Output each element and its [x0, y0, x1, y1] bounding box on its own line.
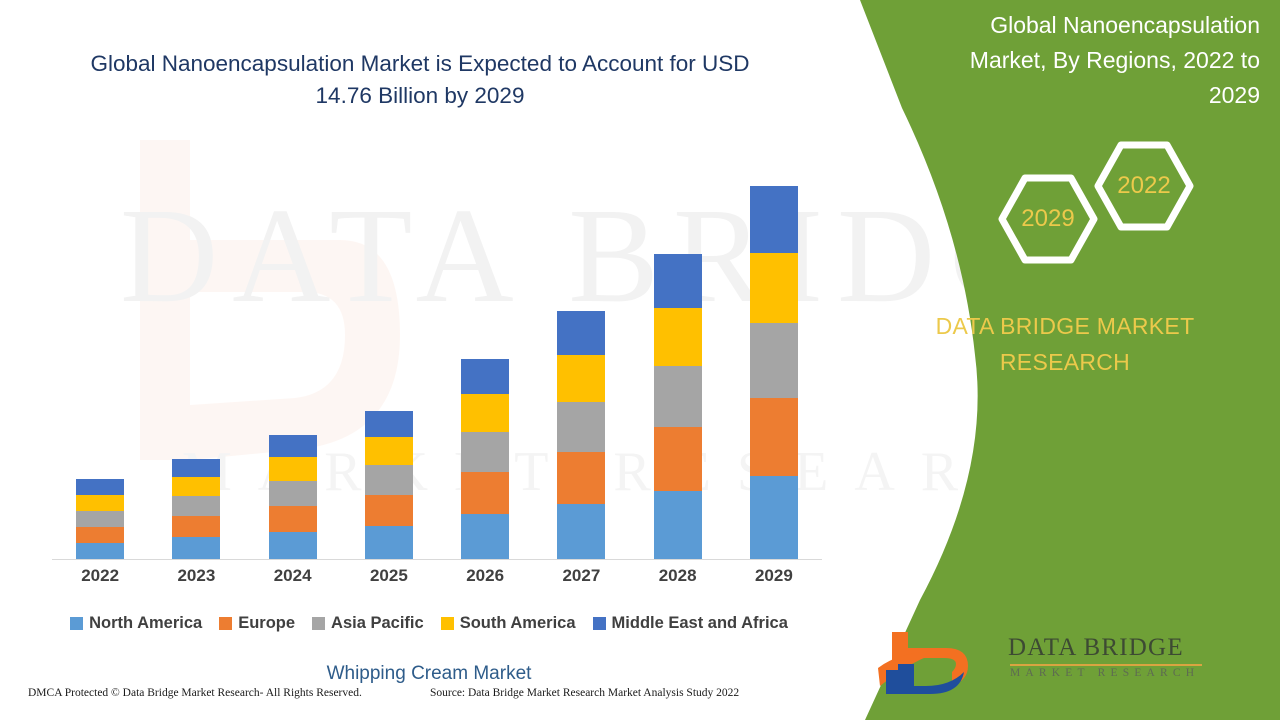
bar-segment [269, 532, 317, 559]
bar-segment [557, 402, 605, 452]
brand-panel-heading: Global Nanoencapsulation Market, By Regi… [950, 8, 1260, 113]
bar-segment [750, 253, 798, 323]
page-title: Global Nanoencapsulation Market is Expec… [70, 48, 770, 112]
bar-group [269, 435, 317, 559]
bar-segment [172, 537, 220, 559]
bar-segment [172, 459, 220, 477]
bar-segment [76, 527, 124, 543]
data-bridge-logo-icon [868, 628, 1008, 698]
legend-label: North America [89, 614, 202, 633]
x-axis-tick: 2028 [633, 566, 723, 586]
x-axis-tick: 2029 [729, 566, 819, 586]
logo-divider [1010, 664, 1202, 666]
legend-item[interactable]: Europe [219, 614, 295, 633]
bar-segment [557, 355, 605, 402]
dmca-notice: DMCA Protected © Data Bridge Market Rese… [28, 687, 362, 699]
x-axis-tick: 2023 [151, 566, 241, 586]
bar-segment [654, 491, 702, 559]
legend-item[interactable]: North America [70, 614, 202, 633]
x-axis-tick: 2027 [536, 566, 626, 586]
source-note: Source: Data Bridge Market Research Mark… [430, 687, 739, 699]
bar-segment [461, 394, 509, 432]
bar-segment [269, 457, 317, 481]
x-axis-tick: 2022 [55, 566, 145, 586]
bar-segment [750, 476, 798, 559]
bar-segment [461, 472, 509, 514]
legend-swatch [312, 617, 325, 630]
hex-label-2022: 2022 [1094, 172, 1194, 200]
legend-item[interactable]: Asia Pacific [312, 614, 424, 633]
bar-segment [269, 481, 317, 506]
legend-item[interactable]: South America [441, 614, 576, 633]
legend-label: Europe [238, 614, 295, 633]
bar-segment [76, 479, 124, 495]
plot-area [52, 180, 822, 560]
bar-segment [654, 308, 702, 366]
bar-segment [172, 496, 220, 516]
bar-group [172, 459, 220, 559]
brand-panel: Global Nanoencapsulation Market, By Regi… [840, 0, 1280, 720]
bar-group [76, 479, 124, 559]
bar-segment [365, 465, 413, 495]
x-axis-labels: 20222023202420252026202720282029 [52, 566, 822, 596]
bar-segment [750, 323, 798, 398]
x-axis-tick: 2024 [248, 566, 338, 586]
bar-segment [172, 477, 220, 496]
bar-segment [365, 411, 413, 437]
bar-segment [76, 495, 124, 511]
legend-item[interactable]: Middle East and Africa [593, 614, 788, 633]
chart-legend: North AmericaEuropeAsia PacificSouth Ame… [0, 614, 858, 633]
bar-segment [365, 437, 413, 465]
bar-segment [654, 366, 702, 427]
bar-segment [557, 504, 605, 559]
bar-segment [365, 526, 413, 559]
bar-segment [557, 311, 605, 355]
legend-label: South America [460, 614, 576, 633]
bar-group [557, 311, 605, 559]
chart-panel: Global Nanoencapsulation Market is Expec… [0, 0, 860, 720]
hex-label-2029: 2029 [998, 205, 1098, 233]
bar-segment [76, 511, 124, 527]
logo-title: DATA BRIDGE [1008, 634, 1184, 662]
bar-segment [654, 427, 702, 491]
legend-label: Asia Pacific [331, 614, 424, 633]
logo-subtitle: MARKET RESEARCH [1010, 667, 1199, 679]
hexagon-badges: 2022 2029 [840, 130, 1280, 290]
x-axis-tick: 2026 [440, 566, 530, 586]
bar-group [461, 359, 509, 559]
bar-segment [76, 543, 124, 559]
footer-subtitle: Whipping Cream Market [0, 663, 858, 685]
bar-segment [557, 452, 605, 504]
bar-segment [654, 254, 702, 308]
legend-swatch [219, 617, 232, 630]
bar-segment [269, 435, 317, 457]
bar-segment [461, 514, 509, 559]
company-logo: DATA BRIDGE MARKET RESEARCH [860, 628, 1280, 698]
bar-segment [461, 359, 509, 394]
brand-name: DATA BRIDGE MARKET RESEARCH [900, 308, 1230, 380]
x-axis-line [52, 559, 822, 560]
bar-segment [365, 495, 413, 526]
bar-segment [750, 186, 798, 253]
bar-segment [172, 516, 220, 537]
bar-segment [269, 506, 317, 532]
bar-group [365, 411, 413, 559]
legend-swatch [441, 617, 454, 630]
bar-group [750, 186, 798, 559]
bar-segment [461, 432, 509, 472]
bar-group [654, 254, 702, 559]
x-axis-tick: 2025 [344, 566, 434, 586]
bar-segment [750, 398, 798, 476]
legend-label: Middle East and Africa [612, 614, 788, 633]
legend-swatch [70, 617, 83, 630]
legend-swatch [593, 617, 606, 630]
